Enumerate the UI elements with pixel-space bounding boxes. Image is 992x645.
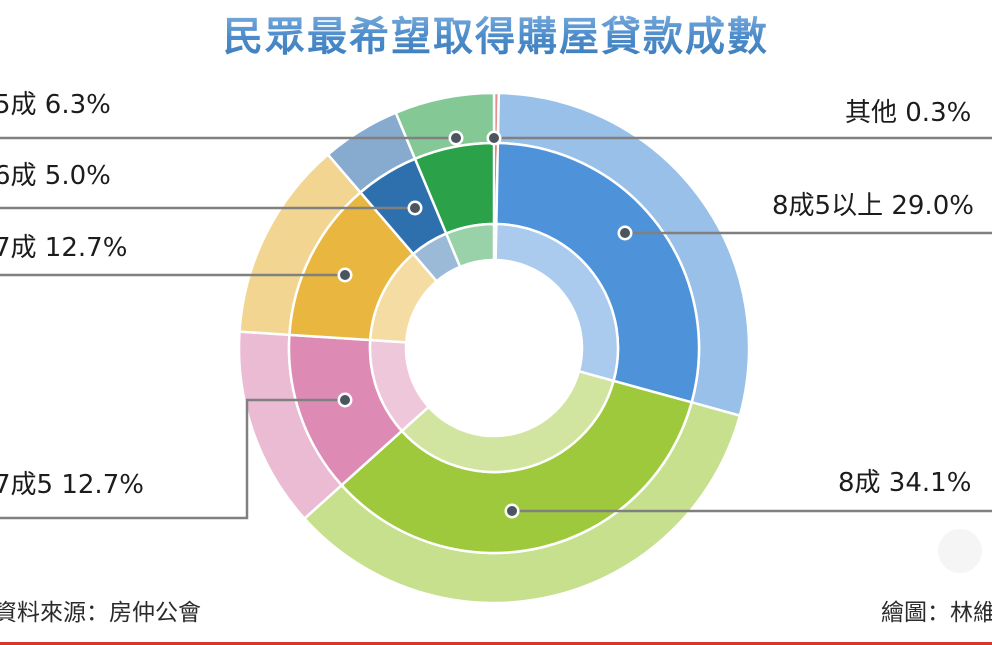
donut-chart <box>0 0 992 645</box>
leader-dot[interactable] <box>620 228 630 238</box>
slice-label-8成: 8成 34.1% <box>838 470 971 496</box>
slice-label-7成: 7成 12.7% <box>0 235 127 261</box>
slice-label-6成: 6成 5.0% <box>0 163 111 189</box>
source-note: 資料來源：房仲公會 <box>0 593 201 627</box>
illustrator-note: 繪圖：林維 <box>881 593 992 627</box>
donut-rings <box>239 93 749 603</box>
leader-dot[interactable] <box>489 133 499 143</box>
watermark-dot <box>938 529 982 573</box>
slice-label-其他: 其他 0.3% <box>845 100 971 126</box>
infographic-canvas: 民眾最希望取得購屋貸款成數 其他 0.3%8成5以上 29.0%8成 34.1%… <box>0 0 992 645</box>
leader-dot[interactable] <box>410 203 420 213</box>
leader-dot[interactable] <box>507 506 517 516</box>
leader-dot[interactable] <box>340 270 350 280</box>
slice-label-5成: 5成 6.3% <box>0 92 111 118</box>
slice-label-8成5以上: 8成5以上 29.0% <box>772 193 974 219</box>
slice-label-7成5: 7成5 12.7% <box>0 472 144 498</box>
leader-dot[interactable] <box>340 395 350 405</box>
leader-dot[interactable] <box>451 133 461 143</box>
